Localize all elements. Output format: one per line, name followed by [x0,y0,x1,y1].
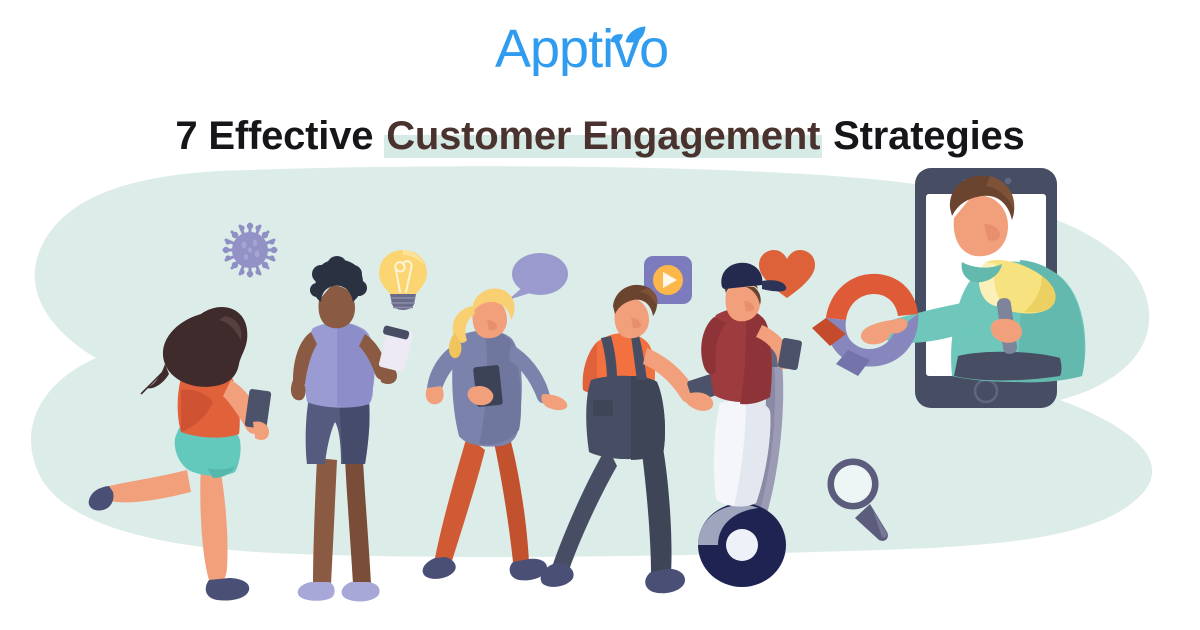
illustration-stage [0,150,1200,630]
apptivo-wordmark: Apptivo [495,19,668,76]
banner-canvas: Apptivo 7 Effective Customer Engagement … [0,0,1200,630]
virus-germ-icon [223,223,277,277]
segway-wheel [698,503,786,587]
apptivo-logo[interactable]: Apptivo [0,14,1200,76]
